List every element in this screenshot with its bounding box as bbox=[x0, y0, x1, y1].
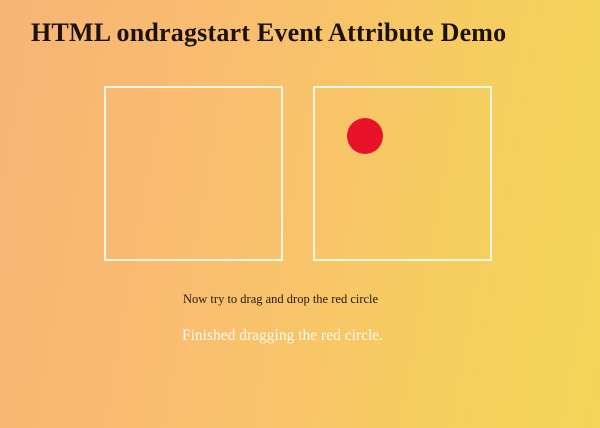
drop-area bbox=[104, 86, 600, 266]
status-message: Finished dragging the red circle. bbox=[182, 327, 383, 345]
red-circle-draggable[interactable] bbox=[347, 118, 383, 154]
drop-zone-left[interactable] bbox=[104, 86, 283, 261]
demo-page: HTML ondragstart Event Attribute Demo No… bbox=[0, 0, 600, 428]
instruction-text: Now try to drag and drop the red circle bbox=[183, 292, 378, 307]
page-title: HTML ondragstart Event Attribute Demo bbox=[31, 18, 506, 48]
drop-zone-right[interactable] bbox=[313, 86, 492, 261]
